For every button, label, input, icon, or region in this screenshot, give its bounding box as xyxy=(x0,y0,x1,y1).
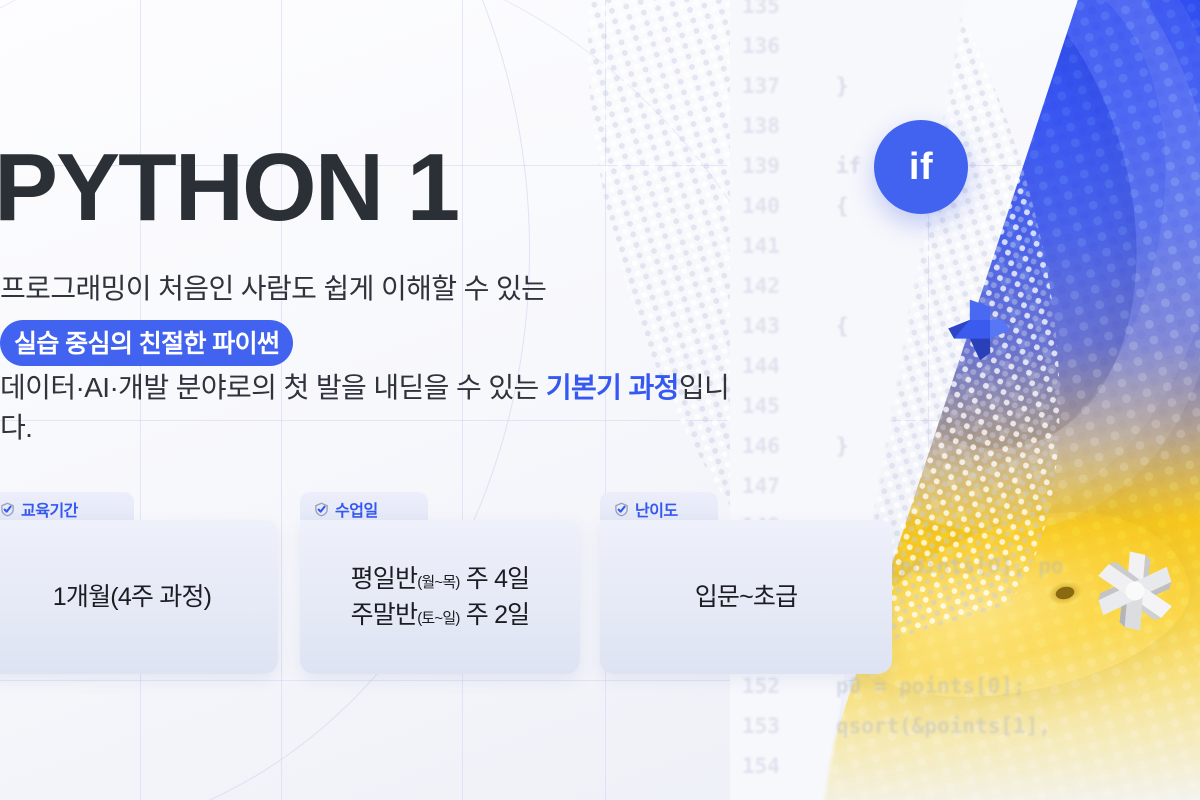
code-line-text xyxy=(798,394,836,418)
hero-subtitle-2-pre: 데이터·AI·개발 분야로의 첫 발을 내딛을 수 있는 xyxy=(0,372,546,403)
page-title: PYTHON 1 xyxy=(0,140,458,236)
info-card-value-row: 평일반(월~목) 주 4일 xyxy=(351,561,530,597)
hero-subtitle-2-highlight: 기본기 과정 xyxy=(546,372,679,403)
info-card-label: 교육기간 xyxy=(21,497,78,521)
weekend-class-range: (토~일) xyxy=(417,610,459,627)
info-card-value-row: 주말반(토~일) 주 2일 xyxy=(351,597,530,633)
check-badge-icon xyxy=(314,502,329,517)
promo-banner: 135 136 137 }138 139 if140 {141 142 143 … xyxy=(0,0,1200,800)
info-card-list: 교육기간 1개월(4주 과정) 수업일 평일반(월~목) 주 4일 주말반(토~… xyxy=(0,492,900,682)
code-line: 135 xyxy=(742,0,1200,26)
asterisk-3d-icon xyxy=(1092,548,1178,634)
info-card-body: 1개월(4주 과정) xyxy=(0,520,278,674)
weekday-class-name: 평일반 xyxy=(351,565,418,593)
info-card-label: 난이도 xyxy=(635,497,678,521)
code-line: 138 xyxy=(742,106,1200,146)
info-card-difficulty[interactable]: 난이도 입문~초급 xyxy=(600,492,892,674)
code-line-text: { xyxy=(798,314,849,338)
code-line-text xyxy=(798,34,836,58)
info-card-value: 입문~초급 xyxy=(695,579,798,615)
code-line: 145 xyxy=(742,386,1200,426)
code-line-text: if xyxy=(798,154,861,178)
code-line-text: } xyxy=(798,74,849,98)
code-line: 141 xyxy=(742,226,1200,266)
weekday-class-range: (월~목) xyxy=(417,574,459,591)
code-line: 139 if xyxy=(742,146,1200,186)
info-card-class-days[interactable]: 수업일 평일반(월~목) 주 4일 주말반(토~일) 주 2일 xyxy=(300,492,580,674)
code-line-text: { xyxy=(798,194,849,218)
code-line: 146 } xyxy=(742,426,1200,466)
code-line: 136 xyxy=(742,26,1200,66)
info-card-body: 평일반(월~목) 주 4일 주말반(토~일) 주 2일 xyxy=(300,520,580,674)
code-line-text xyxy=(798,234,836,258)
info-card-label: 수업일 xyxy=(335,497,378,521)
code-line: 137 } xyxy=(742,66,1200,106)
info-card-body: 입문~초급 xyxy=(600,520,892,674)
hero-subtitle-line-1: 프로그래밍이 처음인 사람도 쉽게 이해할 수 있는 xyxy=(0,267,546,307)
code-line: 153 qsort(&points[1], xyxy=(742,706,1200,746)
weekend-class-freq: 주 2일 xyxy=(460,601,530,629)
info-card-value: 1개월(4주 과정) xyxy=(53,579,211,615)
code-line-text xyxy=(798,114,836,138)
info-card-duration[interactable]: 교육기간 1개월(4주 과정) xyxy=(0,492,278,674)
hero-badge: 실습 중심의 친절한 파이썬 xyxy=(0,320,293,366)
code-line-text xyxy=(798,354,836,378)
code-line-text: qsort(&points[1], xyxy=(798,714,1064,738)
code-line: 140 { xyxy=(742,186,1200,226)
weekday-class-freq: 주 4일 xyxy=(460,565,530,593)
check-badge-icon xyxy=(0,502,15,517)
code-line-text: } xyxy=(798,434,849,458)
weekend-class-name: 주말반 xyxy=(351,601,418,629)
code-line-text xyxy=(798,754,836,778)
check-badge-icon xyxy=(614,502,629,517)
plus-3d-icon xyxy=(944,294,1016,366)
if-badge: if xyxy=(874,120,968,214)
hero-subtitle-line-2: 데이터·AI·개발 분야로의 첫 발을 내딛을 수 있는 기본기 과정입니다. xyxy=(0,366,760,446)
code-line-text xyxy=(798,274,836,298)
if-badge-label: if xyxy=(909,146,933,189)
code-line-text xyxy=(798,0,836,18)
hero-badge-row: 실습 중심의 친절한 파이썬 xyxy=(0,320,293,366)
info-card-value: 평일반(월~목) 주 4일 주말반(토~일) 주 2일 xyxy=(351,561,530,634)
code-line: 154 xyxy=(742,746,1200,786)
